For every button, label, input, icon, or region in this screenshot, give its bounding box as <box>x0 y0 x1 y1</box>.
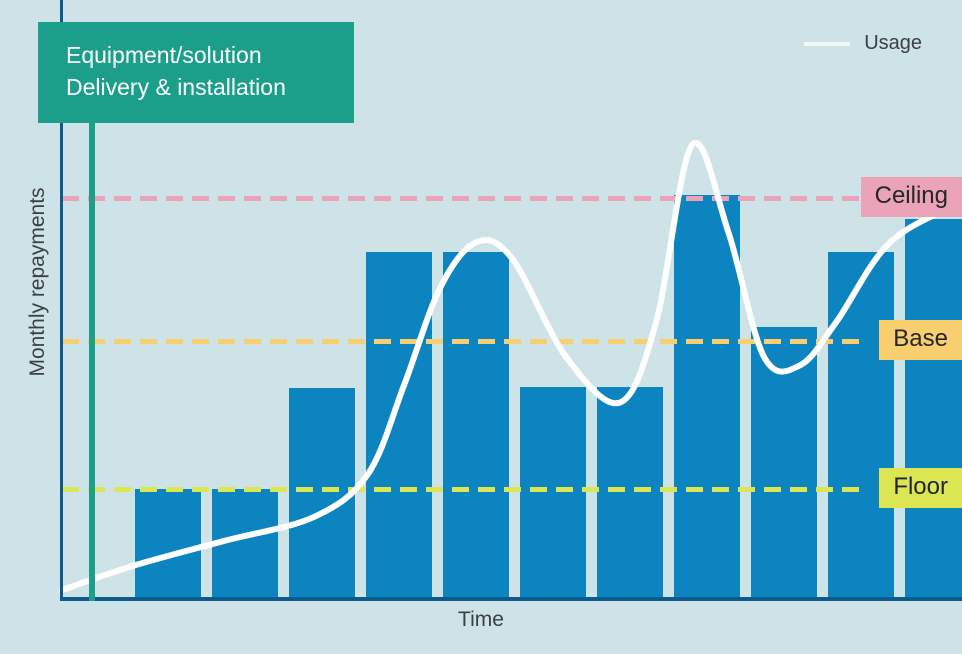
floor-label-text: Floor <box>893 473 948 500</box>
x-axis-line <box>60 597 962 601</box>
milestone-line-1: Equipment/solution <box>66 40 354 72</box>
ceiling-label-text: Ceiling <box>875 182 948 209</box>
legend-item-usage: Usage <box>864 32 922 55</box>
y-axis-title: Monthly repayments <box>26 152 50 412</box>
chart-canvas: Ceiling Base Floor Equipment/solution De… <box>0 0 962 654</box>
milestone-line-2: Delivery & installation <box>66 72 354 104</box>
floor-label-tag: Floor <box>879 468 962 508</box>
ceiling-label-tag: Ceiling <box>861 177 962 217</box>
x-axis-title: Time <box>0 608 962 632</box>
usage-line-swatch-icon <box>804 42 850 46</box>
base-label-tag: Base <box>879 320 962 360</box>
chart-legend: Usage <box>804 32 922 55</box>
milestone-callout: Equipment/solution Delivery & installati… <box>38 22 354 123</box>
base-label-text: Base <box>893 325 948 352</box>
